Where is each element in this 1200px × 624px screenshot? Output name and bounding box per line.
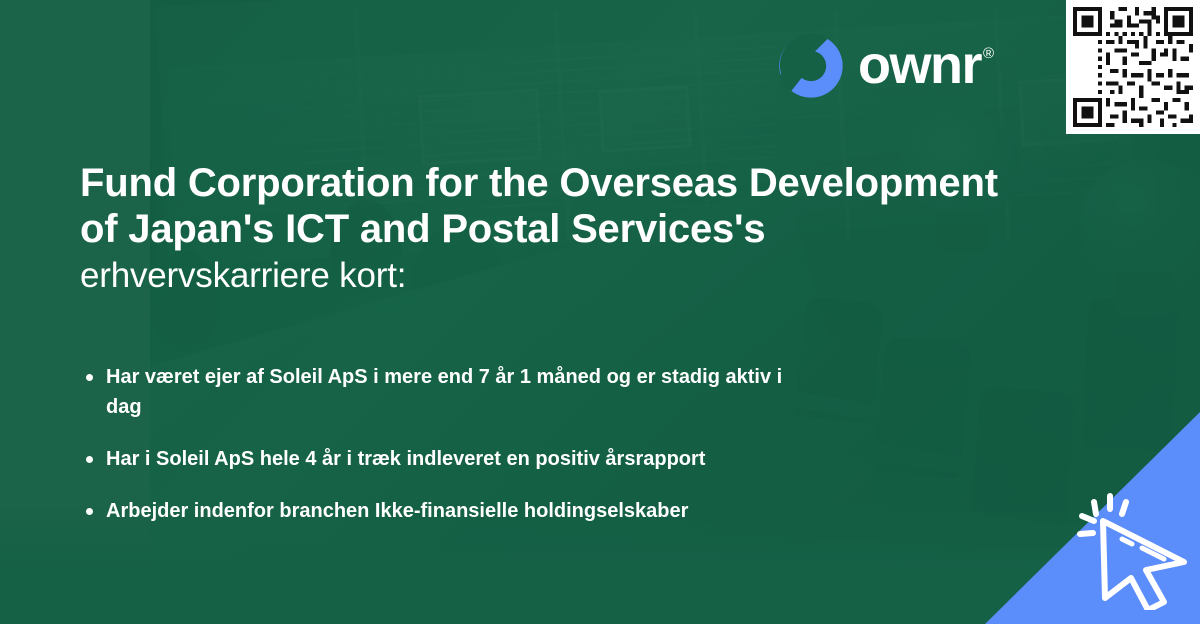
page-title-line-1: Fund Corporation for the Overseas Develo… xyxy=(80,160,1120,206)
career-highlights-list: Har været ejer af Soleil ApS i mere end … xyxy=(84,362,984,526)
ownr-wordmark: ownr xyxy=(858,40,981,91)
page-subtitle: erhvervskarriere kort: xyxy=(80,252,1120,300)
registered-trademark-symbol: ® xyxy=(983,46,994,61)
list-item: Har i Soleil ApS hele 4 år i træk indlev… xyxy=(84,444,784,474)
career-summary-card: ownr ® xyxy=(0,0,1200,624)
list-item: Har været ejer af Soleil ApS i mere end … xyxy=(84,362,784,422)
qr-code[interactable] xyxy=(1066,0,1200,134)
ownr-circle-logo-icon xyxy=(778,33,844,99)
list-item-text: Har været ejer af Soleil ApS i mere end … xyxy=(106,366,782,418)
cursor-arrow-icon xyxy=(1072,490,1192,610)
bullet-dot-icon xyxy=(86,456,93,463)
page-title: Fund Corporation for the Overseas Develo… xyxy=(80,160,1120,300)
list-item: Arbejder indenfor branchen Ikke-finansie… xyxy=(84,496,784,526)
bullet-dot-icon xyxy=(86,374,93,381)
qr-code-icon xyxy=(1073,7,1193,127)
list-item-text: Arbejder indenfor branchen Ikke-finansie… xyxy=(106,500,688,522)
click-cursor-icon xyxy=(1072,490,1192,610)
ownr-logo[interactable]: ownr ® xyxy=(778,33,994,99)
list-item-text: Har i Soleil ApS hele 4 år i træk indlev… xyxy=(106,448,705,470)
bullet-dot-icon xyxy=(86,508,93,515)
page-title-line-2: of Japan's ICT and Postal Services's xyxy=(80,206,1120,252)
